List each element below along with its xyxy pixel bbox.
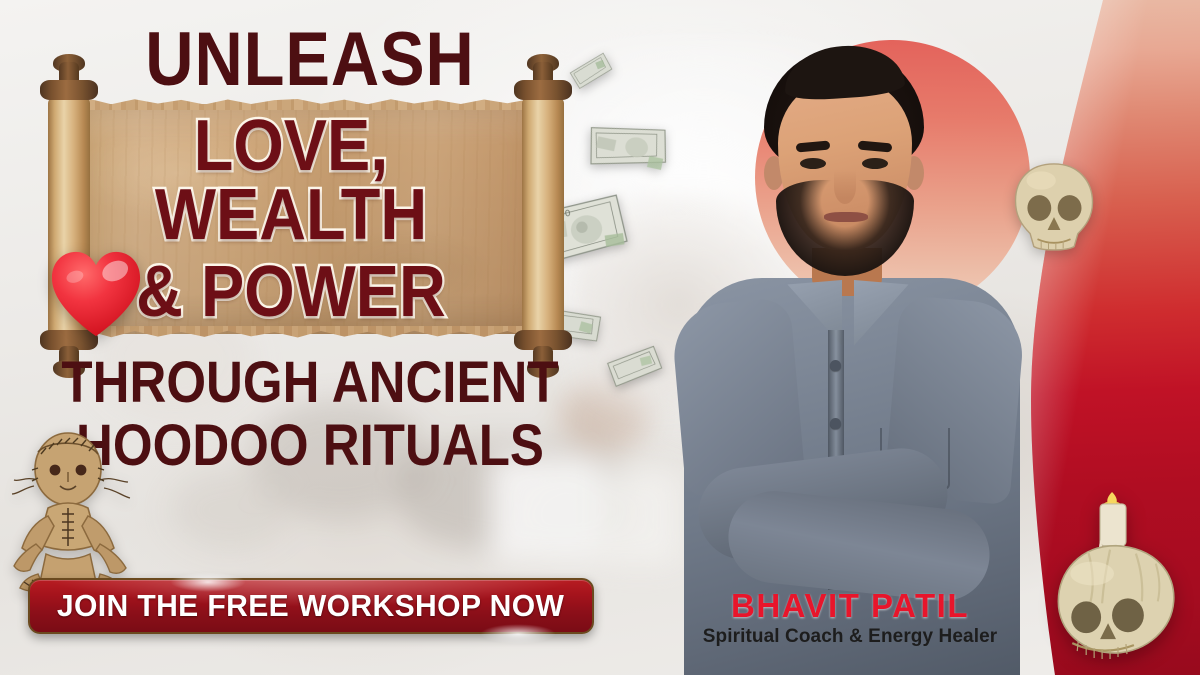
heart-icon: [48, 248, 144, 340]
skull-with-candle-icon: [1052, 490, 1184, 665]
headline-unleash: UNLEASH: [37, 22, 583, 98]
presenter-portrait: „: [612, 30, 1032, 675]
promo-banner: „ ₹500: [0, 0, 1200, 675]
presenter-role: Spiritual Coach & Energy Healer: [655, 625, 1045, 649]
presenter-name: BHAVIT PATIL: [655, 588, 1045, 624]
subheadline-line1: THROUGH ANCIENT: [37, 355, 583, 412]
voodoo-doll-icon: [8, 424, 138, 599]
presenter-credit: BHAVIT PATIL Spiritual Coach & Energy He…: [655, 588, 1045, 649]
skull-icon: [1010, 160, 1098, 256]
join-workshop-button-label: JOIN THE FREE WORKSHOP NOW: [57, 588, 564, 624]
scroll-headline-line1: LOVE, WEALTH: [80, 112, 503, 250]
scroll-rod-right: [522, 62, 564, 372]
join-workshop-button[interactable]: JOIN THE FREE WORKSHOP NOW: [28, 578, 594, 634]
